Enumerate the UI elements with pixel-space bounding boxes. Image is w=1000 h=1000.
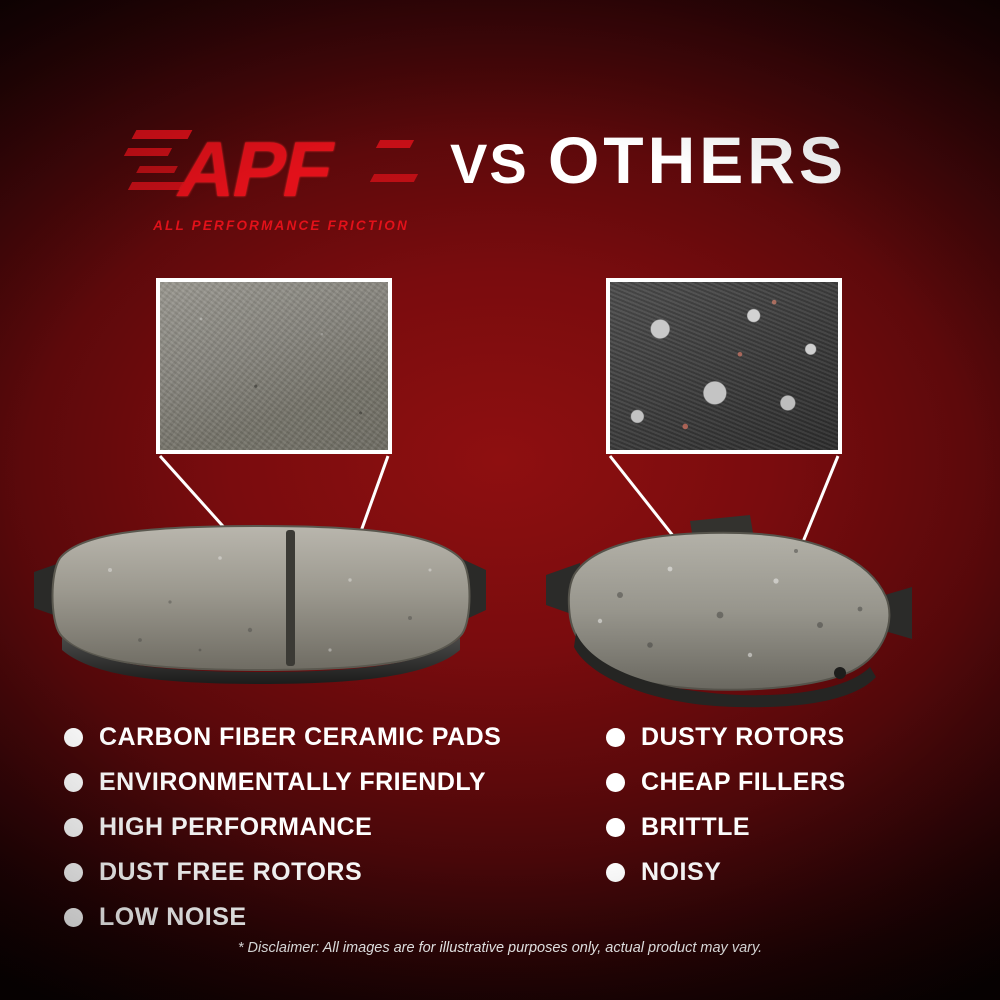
list-item-label: ENVIRONMENTALLY FRIENDLY [99, 768, 486, 797]
page-title: VS OTHERS [450, 122, 950, 198]
list-item: BRITTLE [606, 812, 986, 842]
logo-slash-icon [124, 148, 172, 156]
others-label: OTHERS [548, 123, 847, 197]
list-item: CARBON FIBER CERAMIC PADS [64, 722, 564, 752]
bullet-icon [606, 728, 625, 747]
bullet-icon [64, 863, 83, 882]
bullet-icon [606, 863, 625, 882]
logo-tagline: ALL PERFORMANCE FRICTION [146, 218, 416, 233]
list-item: HIGH PERFORMANCE [64, 812, 564, 842]
logo-slash-icon [132, 130, 193, 139]
others-material-closeup-panel [606, 278, 842, 454]
list-item-label: BRITTLE [641, 813, 750, 842]
list-item-label: DUST FREE ROTORS [99, 858, 362, 887]
logo-slash-icon [370, 174, 418, 182]
bullet-icon [64, 773, 83, 792]
apf-material-closeup-panel [156, 278, 392, 454]
bullet-icon [64, 818, 83, 837]
logo-slash-icon [136, 166, 178, 173]
header: APF ALL PERFORMANCE FRICTION VS OTHERS [0, 96, 1000, 246]
list-item: ENVIRONMENTALLY FRIENDLY [64, 767, 564, 797]
list-item-label: LOW NOISE [99, 903, 247, 932]
list-item-label: CARBON FIBER CERAMIC PADS [99, 723, 501, 752]
vs-label: VS [450, 132, 529, 195]
logo-wordmark: APF [170, 124, 339, 215]
list-item-label: DUSTY ROTORS [641, 723, 845, 752]
list-item: NOISY [606, 857, 986, 887]
list-item-label: NOISY [641, 858, 721, 887]
others-feature-list: DUSTY ROTORS CHEAP FILLERS BRITTLE NOISY [606, 722, 986, 902]
logo-slash-icon [376, 140, 414, 148]
bullet-icon [64, 728, 83, 747]
list-item-label: HIGH PERFORMANCE [99, 813, 372, 842]
bullet-icon [606, 818, 625, 837]
apf-feature-list: CARBON FIBER CERAMIC PADS ENVIRONMENTALL… [64, 722, 564, 947]
disclaimer-text: * Disclaimer: All images are for illustr… [0, 940, 1000, 956]
promo-graphic: APF ALL PERFORMANCE FRICTION VS OTHERS [0, 0, 1000, 1000]
list-item: CHEAP FILLERS [606, 767, 986, 797]
apf-logo: APF ALL PERFORMANCE FRICTION [128, 110, 428, 240]
list-item-label: CHEAP FILLERS [641, 768, 846, 797]
list-item: LOW NOISE [64, 902, 564, 932]
list-item: DUSTY ROTORS [606, 722, 986, 752]
list-item: DUST FREE ROTORS [64, 857, 564, 887]
apf-brake-pad-image [20, 510, 500, 695]
others-brake-pad-image [540, 505, 920, 710]
bullet-icon [606, 773, 625, 792]
bullet-icon [64, 908, 83, 927]
